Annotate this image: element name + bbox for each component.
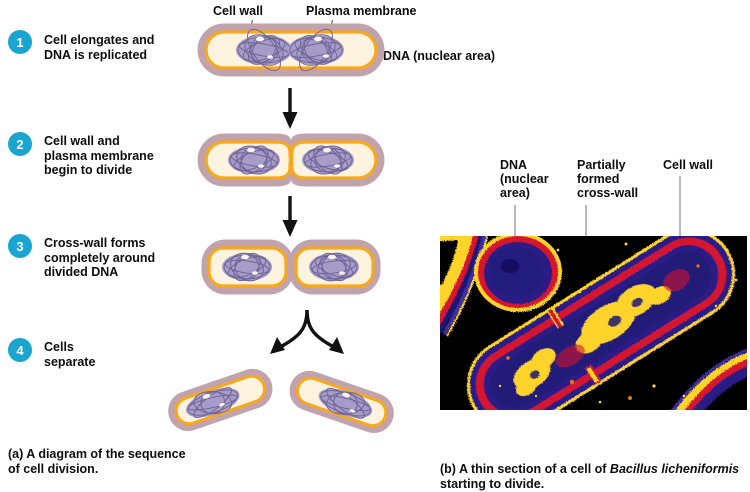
flow-arrow-fork <box>252 310 362 362</box>
step-badge-1: 1 <box>8 30 32 54</box>
cell-diagram-step-3 <box>200 238 382 296</box>
cell-diagram-step-2 <box>196 132 386 188</box>
callout-plasma-membrane-label: Plasma membrane <box>306 4 416 18</box>
step-label-1: Cell elongates and DNA is replicated <box>44 33 154 62</box>
callout-b-crosswall-label: Partially formed cross-wall <box>577 158 638 200</box>
step-label-3: Cross-wall forms completely around divid… <box>44 236 155 280</box>
caption-b-prefix: (b) A thin section of a cell of <box>440 462 610 476</box>
cell-diagram-step-1 <box>196 22 386 78</box>
step-label-4: Cells separate <box>44 340 95 369</box>
caption-panel-b: (b) A thin section of a cell of Bacillus… <box>440 447 740 492</box>
caption-b-suffix: starting to divide. <box>440 477 544 491</box>
cell-diagram-step-4-right <box>282 362 402 440</box>
callout-cell-wall-label: Cell wall <box>213 4 263 18</box>
step-badge-2: 2 <box>8 132 32 156</box>
step-label-2: Cell wall and plasma membrane begin to d… <box>44 134 154 178</box>
cell-diagram-step-4-left <box>160 360 280 438</box>
flow-arrow-2 <box>278 196 302 238</box>
caption-panel-a: (a) A diagram of the sequence of cell di… <box>8 447 186 477</box>
callout-dna-label: DNA (nuclear area) <box>383 49 495 63</box>
flow-arrow-1 <box>278 88 302 130</box>
callout-b-dna-label: DNA (nuclear area) <box>500 158 549 200</box>
micrograph-image <box>440 236 747 410</box>
step-badge-3: 3 <box>8 234 32 258</box>
step-badge-4: 4 <box>8 338 32 362</box>
caption-b-species: Bacillus licheniformis <box>610 462 739 476</box>
callout-b-cellwall-label: Cell wall <box>663 158 713 172</box>
